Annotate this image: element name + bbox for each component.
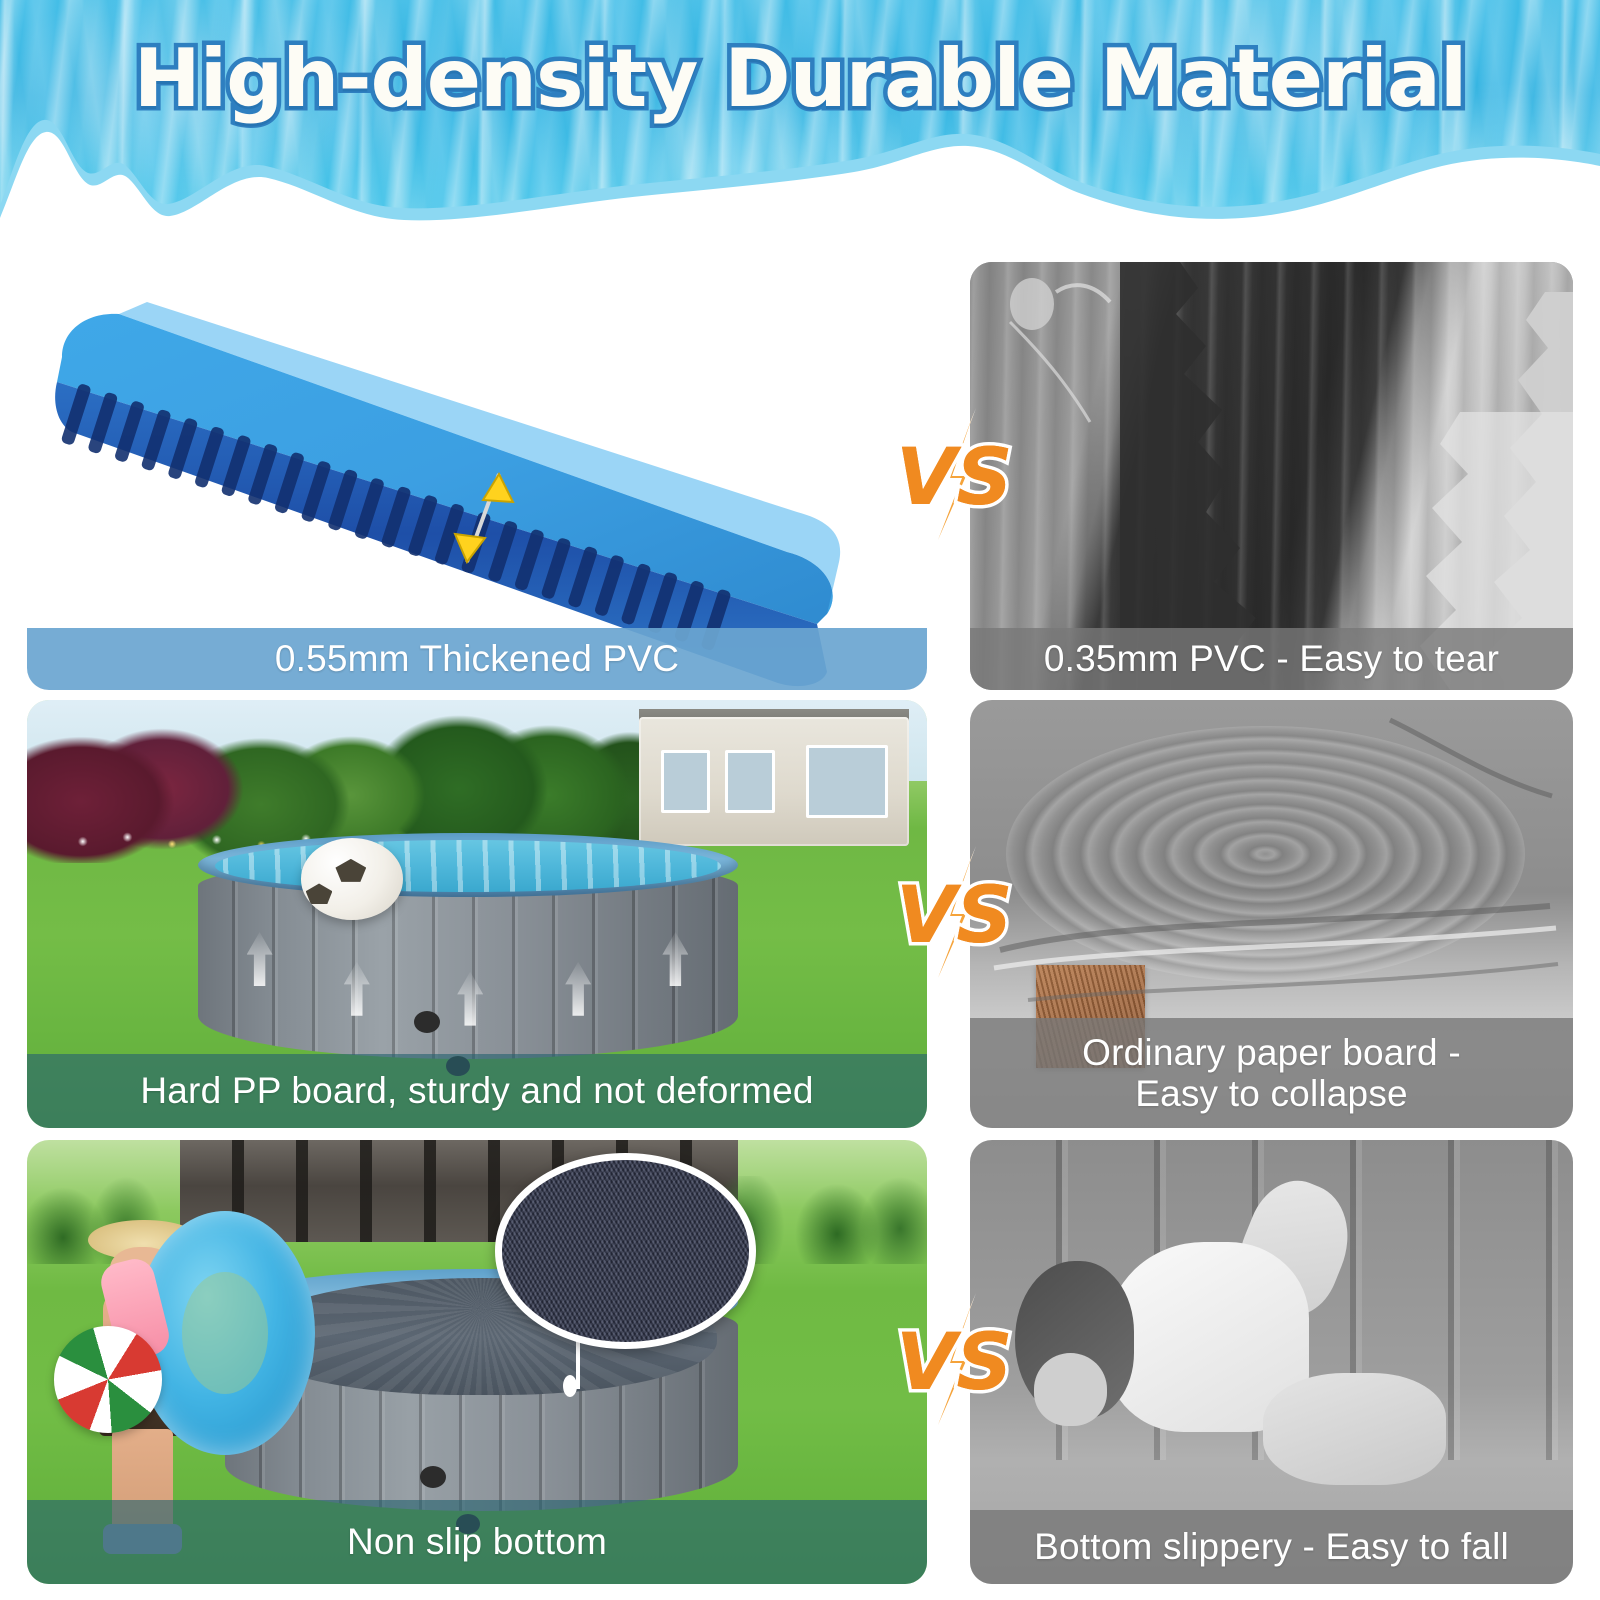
tear-edge-icon: [970, 262, 1573, 690]
caption-good-thickness: 0.55mm Thickened PVC: [27, 628, 927, 690]
baby-face: [1034, 1353, 1107, 1425]
ring-hole: [182, 1272, 268, 1394]
caption-bad-thickness: 0.35mm PVC - Easy to tear: [970, 628, 1573, 690]
panel-good-grip: Non slip bottom: [27, 1140, 927, 1584]
house-window: [661, 750, 710, 812]
soccer-ball: [301, 838, 404, 920]
caption-good-grip: Non slip bottom: [27, 1500, 927, 1584]
foldable-pool-filled: [198, 833, 738, 1081]
caption-bad-rigidity-line1: Ordinary paper board -: [1082, 1032, 1461, 1073]
pool-drain-plug: [420, 1466, 446, 1488]
panel-bad-grip: Bottom slippery - Easy to fall: [970, 1140, 1573, 1584]
thick-pvc-board-icon: [27, 262, 927, 690]
panel-good-rigidity: Hard PP board, sturdy and not deformed: [27, 700, 927, 1128]
baby: [1006, 1202, 1464, 1531]
house: [639, 717, 909, 845]
torn-pvc-photo: [970, 262, 1573, 690]
panel-bad-rigidity: Ordinary paper board - Easy to collapse: [970, 700, 1573, 1128]
caption-bad-rigidity: Ordinary paper board - Easy to collapse: [970, 1018, 1573, 1128]
house-window: [725, 750, 774, 812]
caption-bad-rigidity-line2: Easy to collapse: [1135, 1073, 1408, 1114]
caption-bad-grip: Bottom slippery - Easy to fall: [970, 1510, 1573, 1584]
pvc-board-illustration: [27, 262, 927, 690]
panel-good-thickness: 0.55mm Thickened PVC: [27, 262, 927, 690]
panel-bad-thickness: 0.35mm PVC - Easy to tear: [970, 262, 1573, 690]
baby-leg: [1263, 1373, 1446, 1485]
house-window: [806, 745, 888, 818]
beach-ball: [54, 1326, 162, 1433]
caption-good-rigidity: Hard PP board, sturdy and not deformed: [27, 1054, 927, 1128]
pool-water: [215, 840, 720, 892]
comparison-grid: 0.55mm Thickened PVC 0.35mm PVC - Easy t…: [0, 0, 1600, 1600]
non-slip-texture-zoom: [495, 1153, 756, 1348]
